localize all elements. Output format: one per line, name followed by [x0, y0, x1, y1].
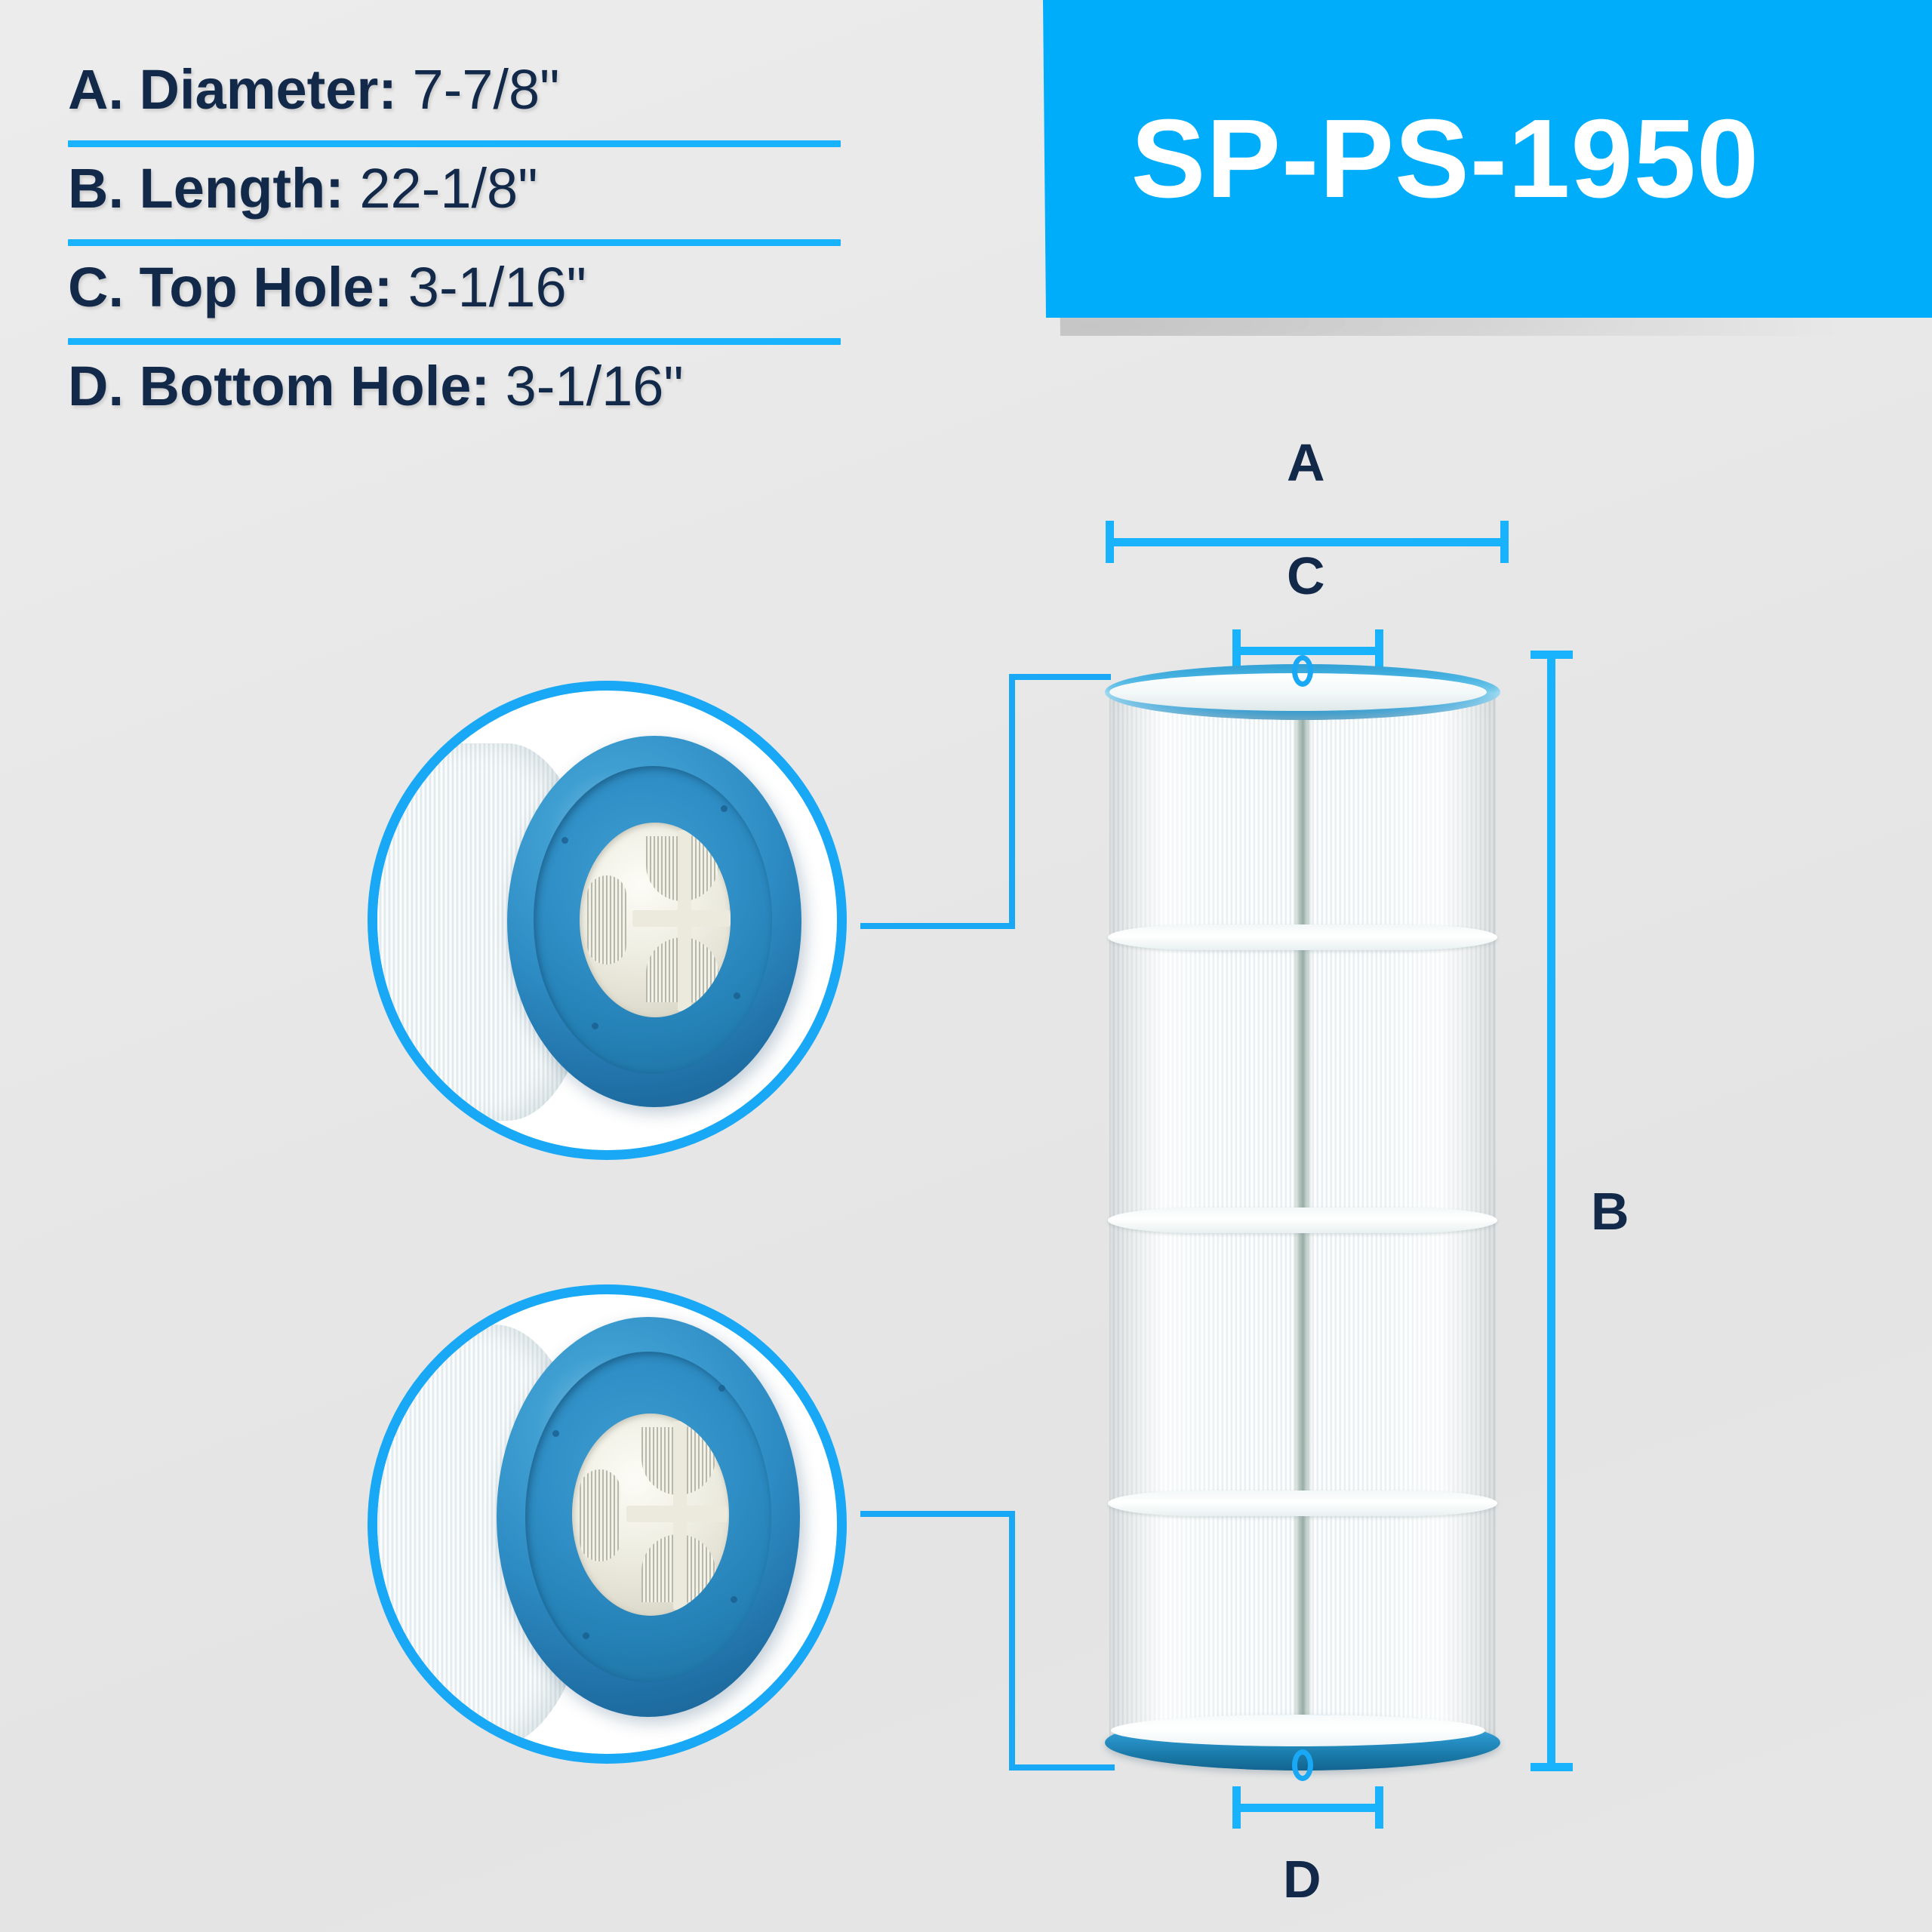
spec-divider-3 — [68, 338, 841, 345]
spec-value-length: 22-1/8" — [359, 157, 537, 220]
dimension-label-b: B — [1591, 1185, 1629, 1238]
leader-line-top-v — [1009, 674, 1015, 929]
filter-support-band — [1108, 1207, 1497, 1233]
dimension-line-d — [1232, 1804, 1383, 1812]
endcap-screw-icon — [718, 1385, 725, 1392]
leader-line-bottom-h2 — [1009, 1764, 1115, 1770]
dimension-tick-a-right — [1500, 521, 1509, 563]
spec-row-diameter: A. Diameter: 7-7/8" — [68, 54, 913, 153]
endcap-screw-icon — [721, 805, 728, 812]
dimension-tick-d-left — [1232, 1786, 1241, 1829]
dimension-tick-b-top — [1531, 651, 1573, 659]
spec-label-length: B. Length: — [68, 157, 359, 220]
filter-bottom-cap-inner — [1111, 1715, 1485, 1746]
dimension-label-a: A — [1287, 436, 1325, 489]
spec-text-length: B. Length: 22-1/8" — [68, 156, 537, 220]
dimension-line-a — [1106, 538, 1509, 546]
endcap-screw-icon — [731, 1596, 737, 1603]
specification-list: A. Diameter: 7-7/8" B. Length: 22-1/8" C… — [68, 54, 913, 450]
filter-support-band — [1108, 924, 1497, 950]
dimension-line-c — [1232, 647, 1383, 655]
callout-anchor-bottom-icon — [1292, 1749, 1313, 1781]
callout-bottom-end-cap — [368, 1284, 847, 1764]
spec-divider-1 — [68, 140, 841, 147]
endcap-screw-icon — [734, 992, 740, 999]
spec-text-bottom-hole: D. Bottom Hole: 3-1/16" — [68, 354, 684, 418]
spec-value-bottom-hole: 3-1/16" — [506, 355, 684, 417]
dimension-line-b — [1547, 651, 1555, 1771]
callout-bottom-hub — [572, 1414, 729, 1616]
leader-line-bottom-v — [1009, 1511, 1015, 1770]
dimension-label-d: D — [1283, 1853, 1321, 1906]
hub-cross-horizontal — [632, 910, 731, 927]
endcap-screw-icon — [592, 1023, 598, 1029]
endcap-screw-icon — [561, 837, 568, 844]
dimension-tick-d-right — [1375, 1786, 1383, 1829]
endcap-screw-icon — [552, 1430, 559, 1437]
leader-line-bottom-h1 — [860, 1511, 1015, 1517]
hub-slot — [587, 875, 626, 964]
spec-text-top-hole: C. Top Hole: 3-1/16" — [68, 255, 586, 319]
hub-slot — [580, 1469, 620, 1561]
spec-row-length: B. Length: 22-1/8" — [68, 153, 913, 252]
product-model-title: SP-PS-1950 — [875, 0, 1932, 318]
callout-anchor-top-icon — [1292, 655, 1313, 687]
leader-line-top-h2 — [860, 923, 1015, 929]
spec-value-top-hole: 3-1/16" — [408, 256, 586, 318]
spec-label-bottom-hole: D. Bottom Hole: — [68, 355, 506, 417]
dimension-tick-b-bottom — [1531, 1763, 1573, 1771]
filter-cartridge — [1109, 664, 1496, 1770]
hub-cross-horizontal — [626, 1506, 728, 1522]
spec-label-top-hole: C. Top Hole: — [68, 256, 408, 318]
spec-value-diameter: 7-7/8" — [412, 58, 559, 121]
callout-top-hub — [580, 823, 731, 1017]
endcap-screw-icon — [583, 1632, 589, 1639]
leader-line-top-h1 — [1009, 674, 1111, 680]
product-dimension-diagram: SP-PS-1950 A. Diameter: 7-7/8" B. Length… — [0, 0, 1932, 1932]
spec-row-bottom-hole: D. Bottom Hole: 3-1/16" — [68, 351, 913, 450]
callout-top-end-cap — [368, 681, 847, 1160]
spec-divider-2 — [68, 239, 841, 246]
spec-row-top-hole: C. Top Hole: 3-1/16" — [68, 252, 913, 351]
filter-support-band — [1108, 1491, 1497, 1516]
dimension-tick-a-left — [1106, 521, 1114, 563]
dimension-label-c: C — [1287, 549, 1325, 602]
spec-label-diameter: A. Diameter: — [68, 58, 412, 121]
spec-text-diameter: A. Diameter: 7-7/8" — [68, 57, 559, 122]
